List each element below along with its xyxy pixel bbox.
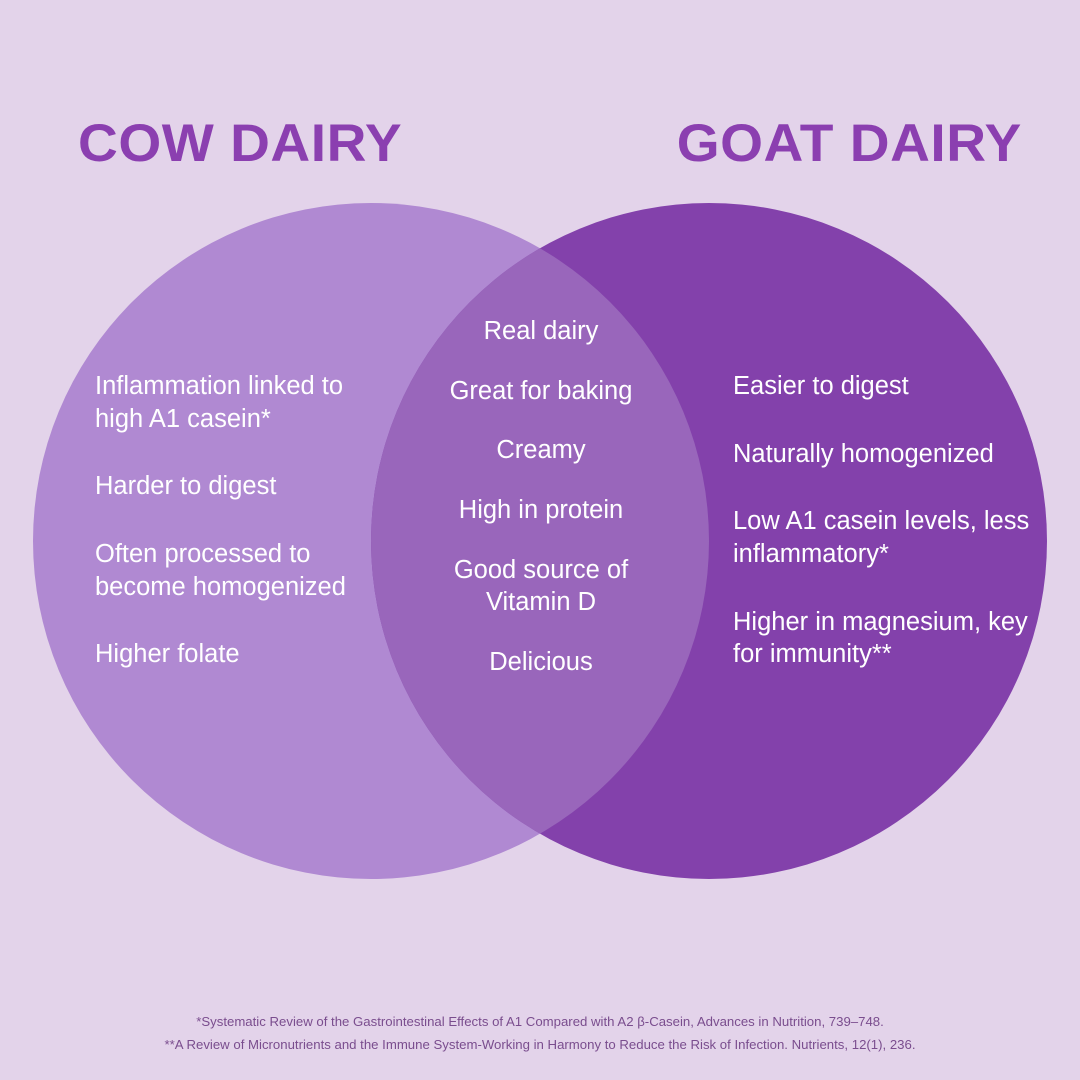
goat-dairy-list: Easier to digest Naturally homogenized L… bbox=[733, 370, 1043, 706]
list-item: Low A1 casein levels, less inflammatory* bbox=[733, 505, 1043, 570]
list-item: Good source of Vitamin D bbox=[412, 554, 670, 619]
list-item: Creamy bbox=[412, 434, 670, 467]
list-item: Inflammation linked to high A1 casein* bbox=[95, 370, 395, 435]
footnote-double-asterisk: **A Review of Micronutrients and the Imm… bbox=[0, 1033, 1080, 1056]
shared-traits-list: Real dairy Great for baking Creamy High … bbox=[412, 315, 670, 705]
list-item: Naturally homogenized bbox=[733, 438, 1043, 471]
list-item: Harder to digest bbox=[95, 470, 395, 503]
list-item: Delicious bbox=[412, 646, 670, 679]
list-item: Easier to digest bbox=[733, 370, 1043, 403]
list-item: Often processed to become homogenized bbox=[95, 538, 395, 603]
cow-dairy-list: Inflammation linked to high A1 casein* H… bbox=[95, 370, 395, 706]
venn-infographic: COW DAIRY GOAT DAIRY Inflammation linked… bbox=[0, 0, 1080, 1080]
footnotes: *Systematic Review of the Gastrointestin… bbox=[0, 1010, 1080, 1056]
list-item: Great for baking bbox=[412, 375, 670, 408]
footnote-single-asterisk: *Systematic Review of the Gastrointestin… bbox=[0, 1010, 1080, 1033]
list-item: High in protein bbox=[412, 494, 670, 527]
list-item: Real dairy bbox=[412, 315, 670, 348]
list-item: Higher folate bbox=[95, 638, 395, 671]
list-item: Higher in magnesium, key for immunity** bbox=[733, 606, 1043, 671]
